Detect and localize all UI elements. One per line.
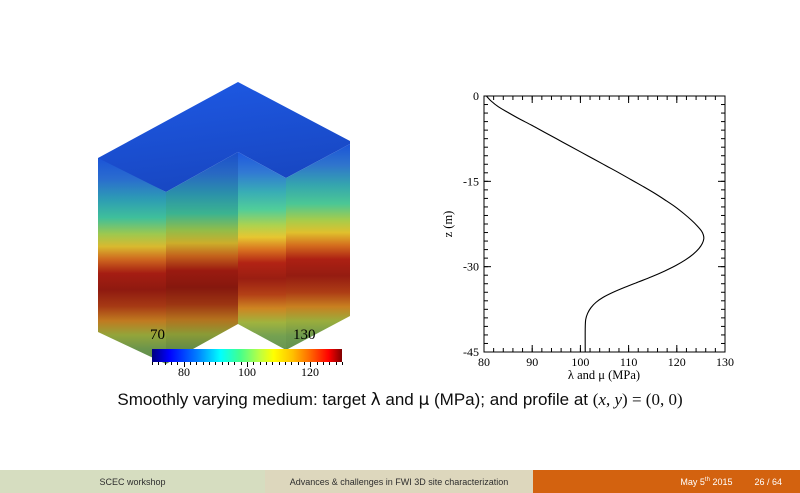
- x-axis-tick-labels: 8090100110120130: [478, 355, 734, 369]
- svg-text:130: 130: [716, 355, 734, 369]
- svg-text:100: 100: [571, 355, 589, 369]
- block-right-outer-face: [286, 144, 350, 350]
- slide-caption: Smoothly varying medium: target λ and μ …: [0, 390, 800, 410]
- colorbar: 70 130 80 100 120: [148, 327, 348, 379]
- plot-frame: [484, 96, 725, 352]
- slide-footer: SCEC workshop Advances & challenges in F…: [0, 470, 800, 493]
- colorbar-max-label: 130: [293, 327, 316, 343]
- caption-lambda-symbol: λ: [371, 390, 381, 410]
- colorbar-tick-label-80: 80: [178, 365, 190, 380]
- footer-talk-title: Advances & challenges in FWI 3D site cha…: [265, 470, 533, 493]
- svg-text:90: 90: [526, 355, 538, 369]
- caption-value: (0, 0): [646, 390, 683, 409]
- svg-text:110: 110: [620, 355, 638, 369]
- colorbar-tick-label-120: 120: [301, 365, 319, 380]
- caption-var-y: y: [614, 390, 622, 409]
- footer-date-suffix: 2015: [710, 477, 733, 487]
- svg-text:-15: -15: [463, 174, 479, 188]
- svg-text:120: 120: [668, 355, 686, 369]
- caption-var-x: x: [598, 390, 606, 409]
- caption-units: (MPa); and profile at: [429, 390, 592, 409]
- svg-text:-45: -45: [463, 345, 479, 359]
- footer-meta: May 5th 2015 26 / 64: [533, 470, 800, 493]
- caption-mu-symbol: μ: [418, 390, 429, 410]
- svg-text:80: 80: [478, 355, 490, 369]
- slide-body: 70 130 80 100 120 8090100110120130 0-15-…: [0, 0, 800, 470]
- footer-page-number: 26 / 64: [754, 477, 782, 487]
- block-inner-face-right: [238, 152, 286, 350]
- footer-date: May 5th 2015: [680, 477, 732, 487]
- profile-plot-svg: 8090100110120130 0-15-30-45 λ and μ (MPa…: [438, 80, 738, 385]
- x-axis-title: λ and μ (MPa): [568, 368, 640, 382]
- colorbar-tick-label-100: 100: [238, 365, 256, 380]
- colorbar-min-label: 70: [150, 327, 165, 343]
- caption-lead: Smoothly varying medium: target: [117, 390, 370, 409]
- caption-and: and: [381, 390, 419, 409]
- footer-venue: SCEC workshop: [0, 470, 265, 493]
- y-axis-tick-labels: 0-15-30-45: [463, 89, 479, 359]
- colorbar-gradient: [152, 349, 342, 362]
- footer-date-prefix: May 5: [680, 477, 705, 487]
- svg-text:-30: -30: [463, 260, 479, 274]
- y-axis-title: z (m): [441, 211, 455, 238]
- caption-equals: =: [628, 390, 646, 409]
- svg-text:0: 0: [473, 89, 479, 103]
- depth-profile-plot: 8090100110120130 0-15-30-45 λ and μ (MPa…: [438, 80, 738, 385]
